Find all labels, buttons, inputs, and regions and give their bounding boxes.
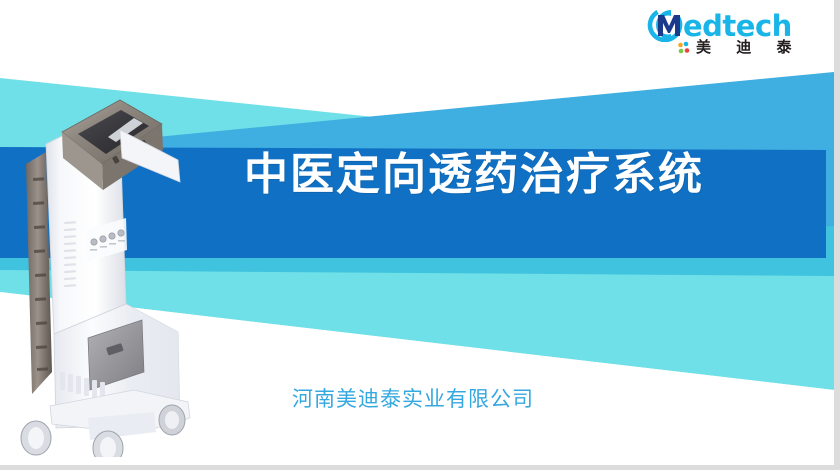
page-title: 中医定向透药治疗系统 (244, 152, 704, 198)
medtech-circle-m-logo-icon: edtech (647, 6, 812, 42)
brand-logo: edtech 美 迪 泰 (647, 6, 812, 64)
brand-chinese-row: 美 迪 泰 (677, 40, 801, 55)
medical-device-illustration (2, 72, 217, 457)
brand-chinese-name: 美 迪 泰 (696, 40, 801, 55)
colored-dots-cluster-icon (677, 41, 691, 55)
presentation-slide: 中医定向透药治疗系统 河南美迪泰实业有限公司 edtech 美 迪 泰 (0, 0, 840, 470)
company-name: 河南美迪泰实业有限公司 (292, 383, 534, 413)
